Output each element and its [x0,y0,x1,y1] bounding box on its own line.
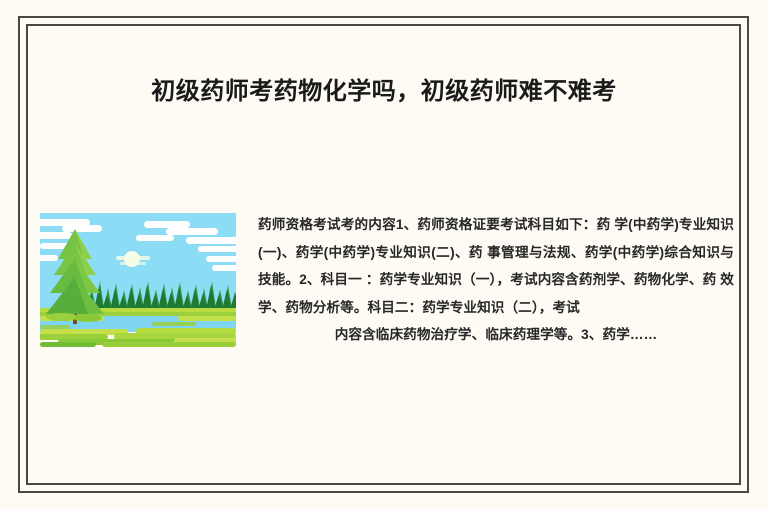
page-root: 初级药师考药物化学吗，初级药师难不难考 [0,0,768,510]
landscape-illustration-svg [40,213,236,347]
article-line-6: 内容含临床药物治疗学、临床药理学等。3、药学…… [258,321,734,349]
water-reed-1 [152,322,196,326]
water-reed-2 [40,325,70,329]
article-line-4: ：药学专业知识（一），考试内容含药剂学、药物化学、药 [366,272,717,287]
landscape-illustration [40,213,236,347]
article-paragraph: 药师资格考试考的内容1、药师资格证要考试科目如下：药 学(中药学)专业知识(一)… [258,211,734,349]
water-bank-right [178,316,236,321]
page-title: 初级药师考药物化学吗，初级药师难不难考 [0,76,768,108]
article-line-1: 药师资格考试考的内容1、药师资格证要考试科目如下：药 [258,217,610,232]
foreground-grass-group [40,328,236,347]
